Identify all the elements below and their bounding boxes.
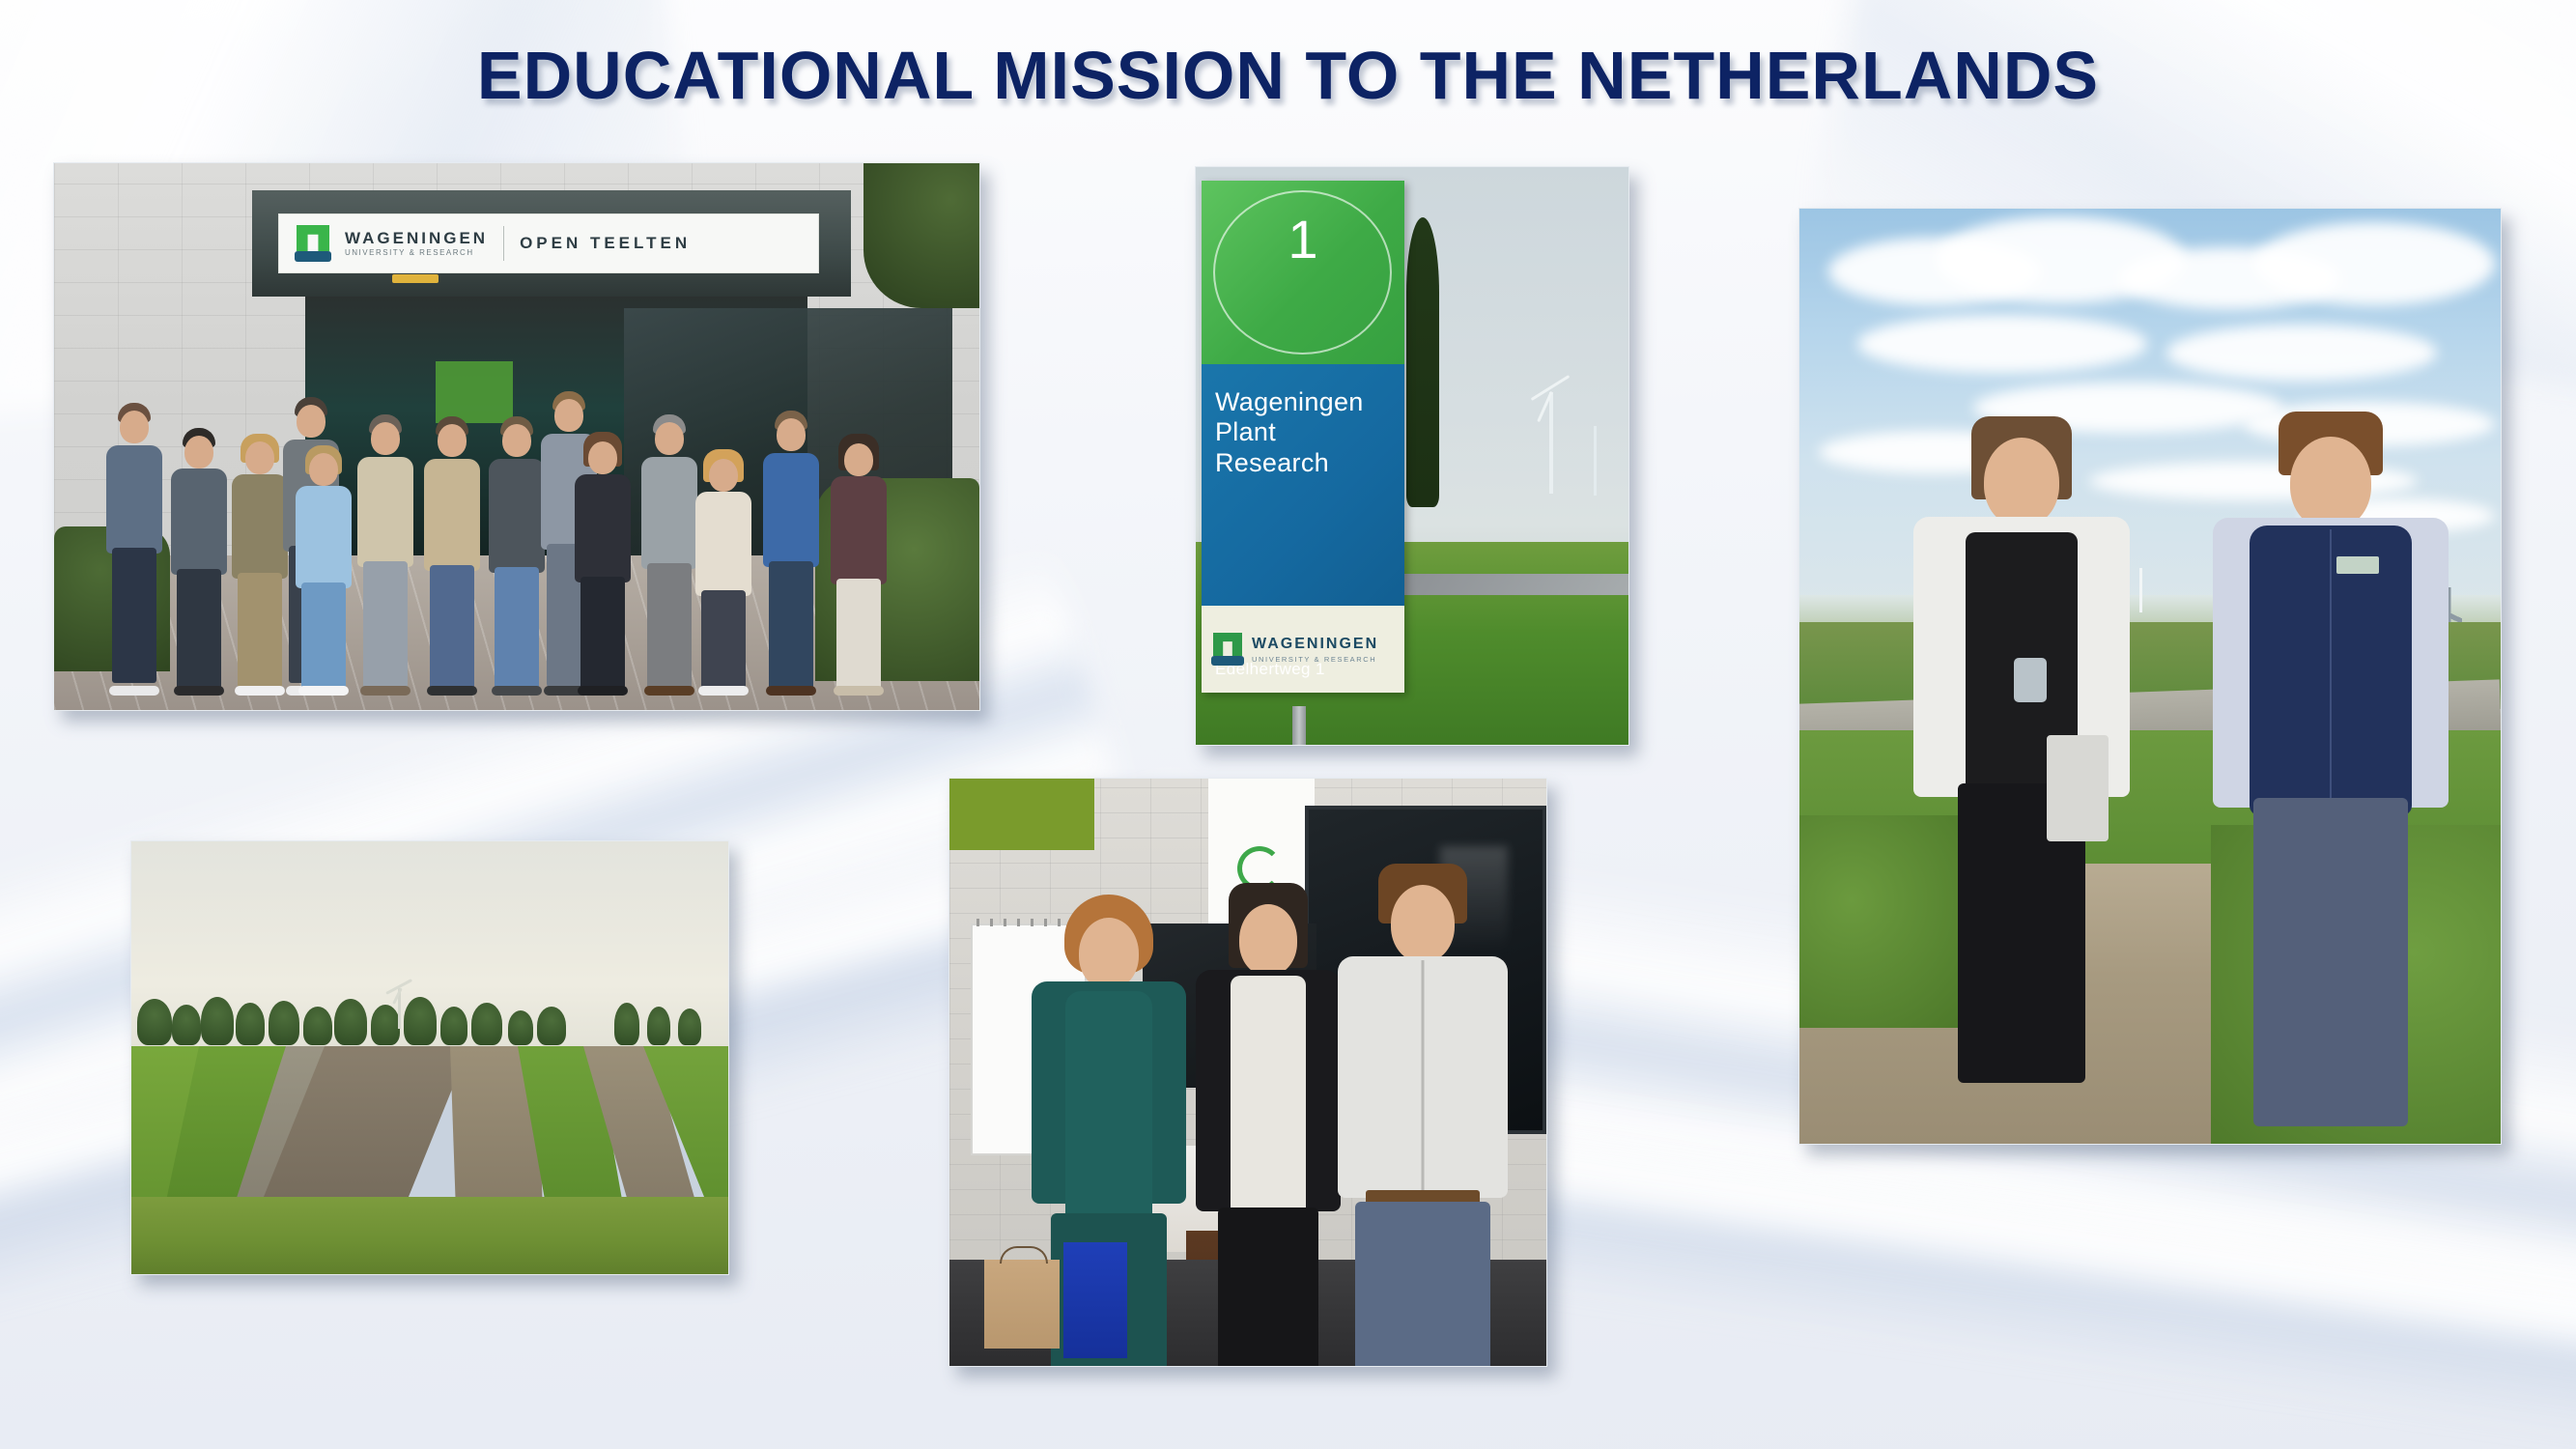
shrub-top-right [863, 163, 979, 308]
sign-location: OPEN TEELTEN [520, 234, 691, 253]
slide-title: EDUCATIONAL MISSION TO THE NETHERLANDS [0, 37, 2576, 114]
group-photo-scene: WAGENINGEN UNIVERSITY & RESEARCH OPEN TE… [54, 163, 979, 710]
trial-field-photo[interactable] [130, 840, 729, 1275]
sign-line-2: Plant [1215, 417, 1404, 447]
field-photo-scene [1799, 209, 2501, 1144]
sign-number: 1 [1202, 208, 1404, 270]
sign-pole [1292, 706, 1306, 745]
sign-line-3: Research [1215, 448, 1404, 478]
group-photo-entrance[interactable]: WAGENINGEN UNIVERSITY & RESEARCH OPEN TE… [53, 162, 980, 711]
person [827, 422, 891, 693]
person [354, 412, 417, 693]
green-wall-panel [949, 779, 1094, 850]
person [100, 403, 168, 693]
person [419, 411, 485, 693]
person-right [1326, 864, 1519, 1366]
wageningen-entrance-sign: WAGENINGEN UNIVERSITY & RESEARCH OPEN TE… [278, 213, 819, 273]
foreground-grass [131, 1197, 728, 1274]
ceiling-lamp [392, 274, 439, 283]
gift-blue-bag [1063, 1242, 1127, 1358]
sign-line-1: Wageningen [1215, 387, 1404, 417]
gift-paper-bag [984, 1260, 1060, 1349]
person-woman [1886, 416, 2157, 1131]
sign-brand: WAGENINGEN [345, 230, 488, 247]
tree-line [131, 991, 728, 1051]
sign-subbrand: UNIVERSITY & RESEARCH [345, 249, 488, 257]
wind-turbine-far-icon [1594, 426, 1597, 496]
sign-photo-scene: 1 Wageningen Plant Research Edelhertweg … [1196, 167, 1628, 745]
indoor-group-photo[interactable] [948, 778, 1547, 1367]
person [572, 422, 634, 693]
wageningen-logo-icon [297, 225, 329, 262]
conifer-tree [1406, 217, 1439, 507]
sign-green-section: 1 [1202, 181, 1404, 364]
sign-divider [503, 226, 504, 261]
person [692, 434, 755, 693]
sign-logo-section: WAGENINGEN UNIVERSITY & RESEARCH [1202, 606, 1404, 693]
person [294, 430, 354, 693]
sign-blue-section: Wageningen Plant Research Edelhertweg 1 [1202, 364, 1404, 606]
wur-sign-board: 1 Wageningen Plant Research Edelhertweg … [1202, 181, 1404, 693]
wageningen-sign-text: WAGENINGEN UNIVERSITY & RESEARCH [345, 230, 488, 257]
indoor-photo-scene [949, 779, 1546, 1366]
slide-canvas: EDUCATIONAL MISSION TO THE NETHERLANDS W… [0, 0, 2576, 1449]
wind-turbine-icon [1549, 392, 1553, 494]
field-conversation-photo[interactable] [1798, 208, 2502, 1145]
person [168, 416, 230, 693]
sign-brand: WAGENINGEN [1252, 636, 1378, 653]
wind-turbine-icon [398, 988, 401, 1029]
trial-field-scene [131, 841, 728, 1274]
wageningen-logo-icon [1213, 633, 1242, 666]
delegation-people-group [54, 364, 979, 693]
road [1383, 574, 1628, 595]
person-man [2186, 412, 2476, 1131]
person [759, 407, 823, 693]
wageningen-plant-research-sign-photo[interactable]: 1 Wageningen Plant Research Edelhertweg … [1195, 166, 1629, 746]
